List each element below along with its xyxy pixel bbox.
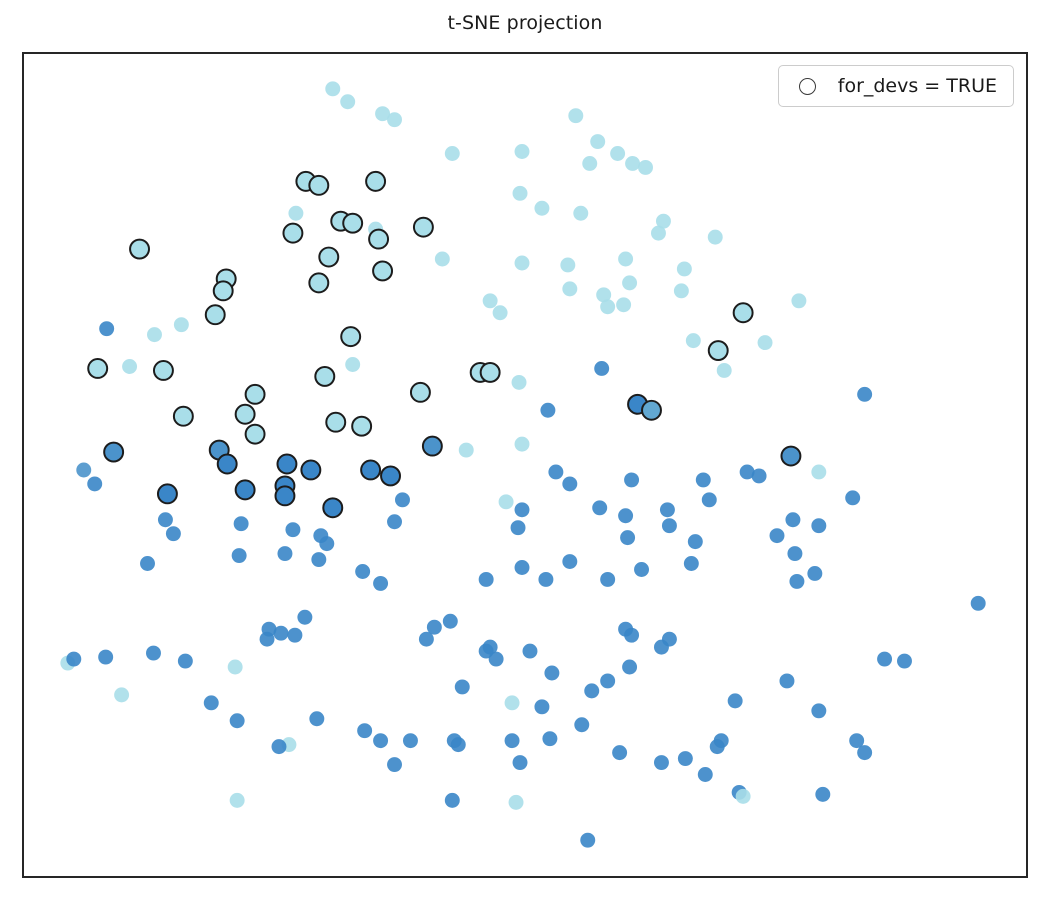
data-point[interactable] (651, 226, 666, 241)
data-point-for-devs[interactable] (373, 261, 392, 280)
data-point[interactable] (789, 574, 804, 589)
data-point-for-devs[interactable] (174, 407, 193, 426)
data-point[interactable] (534, 201, 549, 216)
data-point[interactable] (319, 536, 334, 551)
data-point-for-devs[interactable] (366, 172, 385, 191)
data-point[interactable] (710, 739, 725, 754)
data-point[interactable] (387, 514, 402, 529)
data-point[interactable] (523, 644, 538, 659)
data-point[interactable] (544, 666, 559, 681)
data-point-for-devs[interactable] (301, 461, 320, 480)
data-point[interactable] (600, 572, 615, 587)
data-point[interactable] (684, 556, 699, 571)
data-point[interactable] (538, 572, 553, 587)
data-point-for-devs[interactable] (88, 359, 107, 378)
data-point[interactable] (622, 275, 637, 290)
data-point[interactable] (357, 723, 372, 738)
data-point-for-devs[interactable] (218, 455, 237, 474)
data-point[interactable] (204, 695, 219, 710)
data-point[interactable] (158, 512, 173, 527)
data-point[interactable] (686, 333, 701, 348)
data-point-for-devs[interactable] (414, 218, 433, 237)
data-point[interactable] (677, 261, 692, 276)
data-point[interactable] (511, 520, 526, 535)
data-point[interactable] (857, 745, 872, 760)
data-point[interactable] (373, 576, 388, 591)
data-point-for-devs[interactable] (361, 461, 380, 480)
data-point[interactable] (287, 628, 302, 643)
data-point[interactable] (592, 500, 607, 515)
data-point[interactable] (479, 572, 494, 587)
data-point[interactable] (373, 733, 388, 748)
data-point[interactable] (515, 502, 530, 517)
chart-legend[interactable]: for_devs = TRUE (778, 65, 1014, 107)
data-point[interactable] (147, 327, 162, 342)
data-point[interactable] (568, 108, 583, 123)
data-point-for-devs[interactable] (277, 455, 296, 474)
data-point-for-devs[interactable] (283, 224, 302, 243)
data-point-for-devs[interactable] (642, 401, 661, 420)
data-point-for-devs[interactable] (709, 341, 728, 360)
data-point[interactable] (234, 516, 249, 531)
data-point[interactable] (811, 465, 826, 480)
data-point[interactable] (662, 518, 677, 533)
data-point[interactable] (779, 673, 794, 688)
data-point[interactable] (274, 626, 289, 641)
points-group (60, 81, 985, 847)
data-point[interactable] (612, 745, 627, 760)
data-point-for-devs[interactable] (323, 498, 342, 517)
data-point[interactable] (122, 359, 137, 374)
data-point[interactable] (534, 699, 549, 714)
legend-entry-label: for_devs = TRUE (838, 75, 997, 97)
data-point[interactable] (66, 652, 81, 667)
data-point[interactable] (618, 508, 633, 523)
data-point-for-devs[interactable] (236, 480, 255, 499)
data-point[interactable] (696, 472, 711, 487)
data-point[interactable] (542, 731, 557, 746)
data-point[interactable] (513, 186, 528, 201)
data-point[interactable] (758, 335, 773, 350)
data-point[interactable] (87, 476, 102, 491)
data-point[interactable] (815, 787, 830, 802)
data-point[interactable] (897, 654, 912, 669)
data-point[interactable] (387, 757, 402, 772)
data-point[interactable] (403, 733, 418, 748)
data-point[interactable] (654, 755, 669, 770)
data-point[interactable] (634, 562, 649, 577)
data-point[interactable] (445, 793, 460, 808)
data-point[interactable] (688, 534, 703, 549)
data-point[interactable] (770, 528, 785, 543)
legend-open-circle-icon (799, 78, 816, 95)
data-point[interactable] (515, 144, 530, 159)
data-point[interactable] (395, 492, 410, 507)
data-point[interactable] (845, 490, 860, 505)
data-point[interactable] (311, 552, 326, 567)
data-point-for-devs[interactable] (246, 385, 265, 404)
data-point[interactable] (419, 632, 434, 647)
data-point-for-devs[interactable] (246, 425, 265, 444)
data-point[interactable] (600, 299, 615, 314)
data-point[interactable] (590, 134, 605, 149)
data-point[interactable] (174, 317, 189, 332)
data-point[interactable] (483, 293, 498, 308)
data-point[interactable] (698, 767, 713, 782)
data-point[interactable] (146, 646, 161, 661)
data-point[interactable] (232, 548, 247, 563)
data-point-for-devs[interactable] (734, 303, 753, 322)
data-point[interactable] (515, 560, 530, 575)
data-point[interactable] (625, 156, 640, 171)
data-point[interactable] (455, 679, 470, 694)
data-point[interactable] (674, 283, 689, 298)
data-point[interactable] (791, 293, 806, 308)
data-point-for-devs[interactable] (236, 405, 255, 424)
data-point-for-devs[interactable] (341, 327, 360, 346)
data-point[interactable] (114, 687, 129, 702)
data-point[interactable] (582, 156, 597, 171)
data-point[interactable] (99, 321, 114, 336)
data-point[interactable] (345, 357, 360, 372)
data-point[interactable] (513, 755, 528, 770)
data-point[interactable] (618, 252, 633, 267)
data-point[interactable] (505, 695, 520, 710)
data-point[interactable] (272, 739, 287, 754)
data-point[interactable] (230, 793, 245, 808)
data-point[interactable] (562, 554, 577, 569)
data-point[interactable] (309, 711, 324, 726)
page-title: t-SNE projection (0, 12, 1050, 34)
data-point[interactable] (340, 94, 355, 109)
data-point[interactable] (708, 230, 723, 245)
data-point[interactable] (736, 789, 751, 804)
data-point[interactable] (285, 522, 300, 537)
data-point[interactable] (435, 252, 450, 267)
data-point[interactable] (560, 258, 575, 273)
data-point[interactable] (610, 146, 625, 161)
data-point[interactable] (166, 526, 181, 541)
data-point-for-devs[interactable] (781, 447, 800, 466)
data-point[interactable] (717, 363, 732, 378)
data-point[interactable] (562, 476, 577, 491)
data-point[interactable] (857, 387, 872, 402)
data-point-for-devs[interactable] (206, 305, 225, 324)
data-point[interactable] (228, 660, 243, 675)
data-point[interactable] (752, 468, 767, 483)
data-point[interactable] (594, 361, 609, 376)
data-point[interactable] (277, 546, 292, 561)
data-point[interactable] (355, 564, 370, 579)
data-point[interactable] (548, 465, 563, 480)
data-point[interactable] (811, 518, 826, 533)
data-point[interactable] (325, 81, 340, 96)
data-point[interactable] (297, 610, 312, 625)
tsne-figure: t-SNE projection for_devs = TRUE (0, 0, 1050, 900)
data-point[interactable] (811, 703, 826, 718)
data-point[interactable] (489, 652, 504, 667)
data-point[interactable] (787, 546, 802, 561)
data-point[interactable] (260, 632, 275, 647)
data-point[interactable] (499, 494, 514, 509)
data-point-for-devs[interactable] (214, 281, 233, 300)
data-point[interactable] (76, 463, 91, 478)
data-point[interactable] (574, 717, 589, 732)
data-point[interactable] (505, 733, 520, 748)
data-point[interactable] (443, 614, 458, 629)
data-point[interactable] (807, 566, 822, 581)
data-point-for-devs[interactable] (104, 443, 123, 462)
data-point[interactable] (512, 375, 527, 390)
data-point-for-devs[interactable] (369, 230, 388, 249)
data-point[interactable] (178, 654, 193, 669)
data-point[interactable] (702, 492, 717, 507)
data-point-for-devs[interactable] (343, 214, 362, 233)
data-point[interactable] (459, 443, 474, 458)
data-point-for-devs[interactable] (130, 240, 149, 259)
data-point-for-devs[interactable] (315, 367, 334, 386)
data-point[interactable] (580, 833, 595, 848)
data-point[interactable] (638, 160, 653, 175)
data-point[interactable] (288, 206, 303, 221)
data-point[interactable] (540, 403, 555, 418)
data-point-for-devs[interactable] (319, 248, 338, 267)
data-point[interactable] (451, 737, 466, 752)
data-point[interactable] (515, 437, 530, 452)
data-point[interactable] (387, 112, 402, 127)
scatter-points-layer[interactable] (24, 54, 1026, 876)
data-point-for-devs[interactable] (423, 437, 442, 456)
data-point[interactable] (654, 640, 669, 655)
data-point[interactable] (678, 751, 693, 766)
data-point[interactable] (971, 596, 986, 611)
data-point-for-devs[interactable] (411, 383, 430, 402)
data-point[interactable] (140, 556, 155, 571)
data-point[interactable] (660, 502, 675, 517)
data-point[interactable] (562, 281, 577, 296)
data-point[interactable] (616, 297, 631, 312)
data-point-for-devs[interactable] (326, 413, 345, 432)
data-point-for-devs[interactable] (275, 486, 294, 505)
data-point[interactable] (98, 650, 113, 665)
data-point[interactable] (785, 512, 800, 527)
plot-area[interactable]: for_devs = TRUE (22, 52, 1028, 878)
data-point-for-devs[interactable] (481, 363, 500, 382)
data-point-for-devs[interactable] (158, 484, 177, 503)
data-point[interactable] (445, 146, 460, 161)
data-point[interactable] (728, 693, 743, 708)
data-point[interactable] (573, 206, 588, 221)
data-point[interactable] (584, 683, 599, 698)
data-point-for-devs[interactable] (352, 417, 371, 436)
data-point-for-devs[interactable] (381, 466, 400, 485)
data-point[interactable] (600, 673, 615, 688)
data-point-for-devs[interactable] (154, 361, 173, 380)
data-point-for-devs[interactable] (309, 273, 328, 292)
data-point[interactable] (493, 305, 508, 320)
data-point[interactable] (877, 652, 892, 667)
data-point[interactable] (509, 795, 524, 810)
data-point[interactable] (515, 256, 530, 271)
data-point-for-devs[interactable] (309, 176, 328, 195)
data-point[interactable] (230, 713, 245, 728)
data-point[interactable] (622, 660, 637, 675)
data-point[interactable] (624, 628, 639, 643)
data-point[interactable] (624, 472, 639, 487)
data-point[interactable] (620, 530, 635, 545)
